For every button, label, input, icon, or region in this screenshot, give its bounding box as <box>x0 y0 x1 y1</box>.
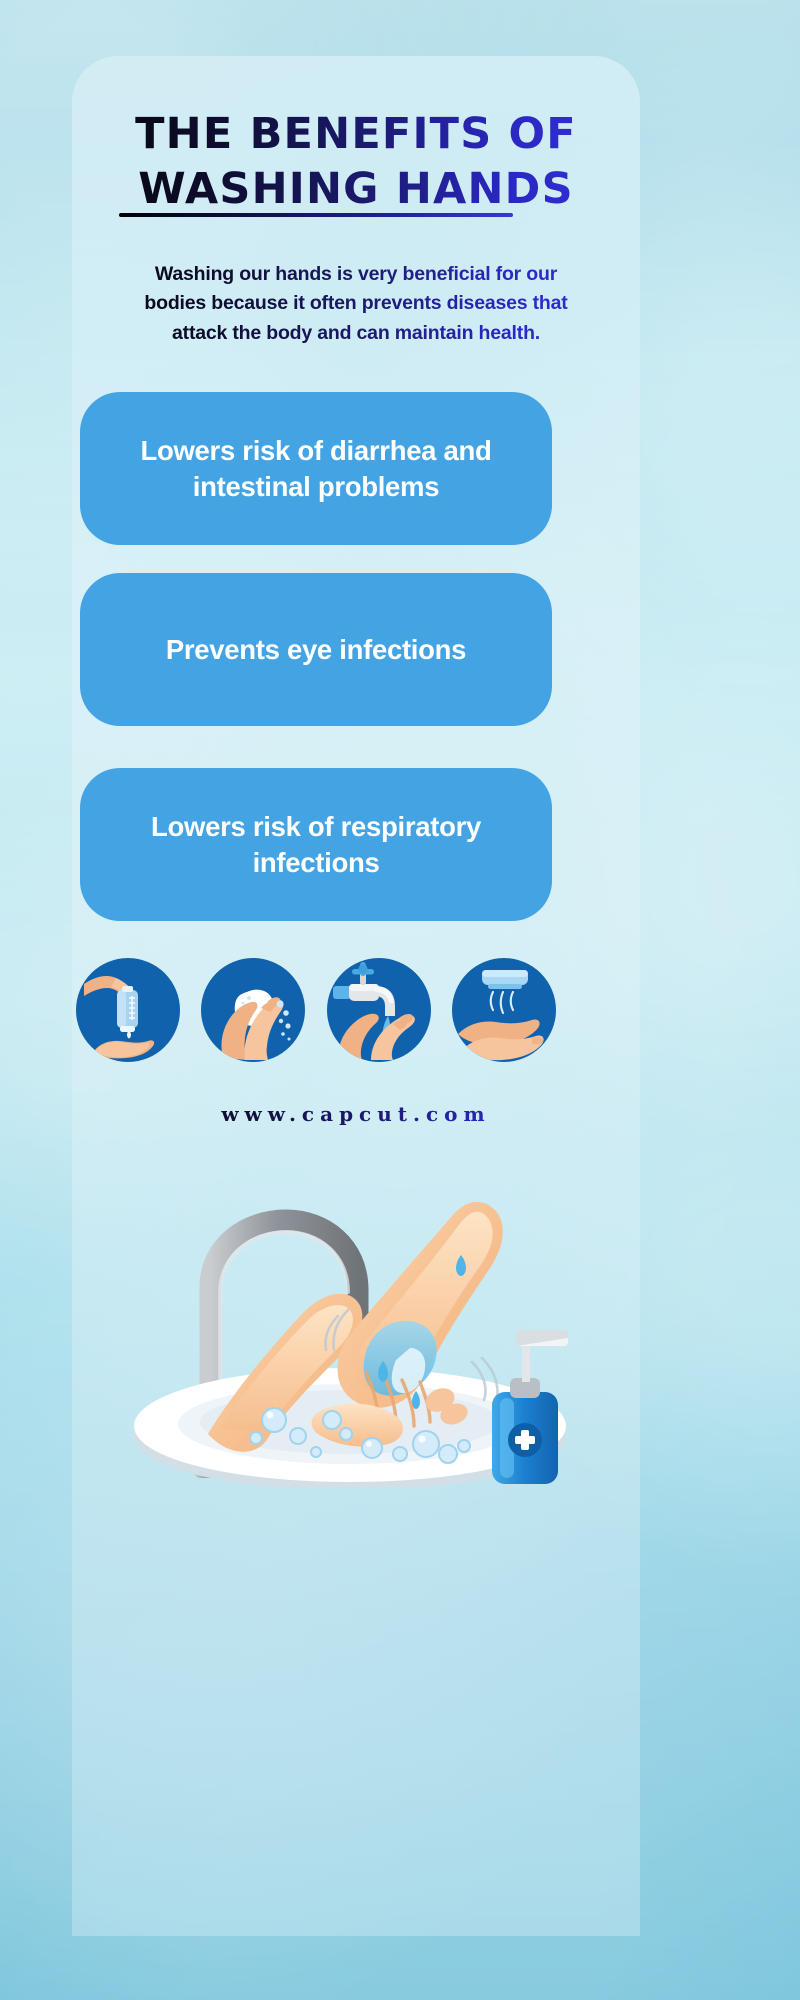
intro-paragraph: Washing our hands is very beneficial for… <box>92 260 620 349</box>
washing-hands-at-sink-illustration <box>60 1148 620 1488</box>
step-icon-2 <box>201 958 305 1062</box>
website-url[interactable]: www.capcut.com <box>92 1102 620 1126</box>
step-icon-1 <box>76 958 180 1062</box>
benefit-card-1-line-1: Lowers risk of diarrhea and <box>140 435 491 466</box>
handwashing-steps-row <box>76 950 556 1070</box>
benefit-card-2-text: Prevents eye infections <box>166 632 466 668</box>
step-icon-3 <box>327 958 431 1062</box>
intro-line-2: bodies because it often prevents disease… <box>92 289 620 319</box>
page-title-line-2: WASHING HANDS <box>90 162 622 217</box>
benefit-card-3-line-2: infections <box>253 847 380 878</box>
benefit-card-1-text: Lowers risk of diarrhea and intestinal p… <box>140 433 491 505</box>
page-title-line-1: THE BENEFITS OF <box>90 107 622 162</box>
benefit-card-2-line-1: Prevents eye infections <box>166 634 466 665</box>
rinse-under-tap-icon <box>327 958 431 1062</box>
benefit-card-3-text: Lowers risk of respiratory infections <box>151 809 481 881</box>
apply-soap-icon <box>76 958 180 1062</box>
hero-illustration <box>60 1148 620 1488</box>
intro-line-3: attack the body and can maintain health. <box>92 319 620 349</box>
soap-dispenser <box>492 1330 568 1484</box>
benefit-card-3[interactable]: Lowers risk of respiratory infections <box>80 768 552 921</box>
dry-hands-icon <box>452 958 556 1062</box>
benefit-card-1-line-2: intestinal problems <box>193 471 439 502</box>
page-title: THE BENEFITS OF WASHING HANDS <box>90 107 622 217</box>
benefit-card-1[interactable]: Lowers risk of diarrhea and intestinal p… <box>80 392 552 545</box>
benefit-card-3-line-1: Lowers risk of respiratory <box>151 811 481 842</box>
title-divider <box>119 213 513 217</box>
step-icon-4 <box>452 958 556 1062</box>
benefit-card-2[interactable]: Prevents eye infections <box>80 573 552 726</box>
lather-hands-icon <box>201 958 305 1062</box>
intro-line-1: Washing our hands is very beneficial for… <box>92 260 620 290</box>
